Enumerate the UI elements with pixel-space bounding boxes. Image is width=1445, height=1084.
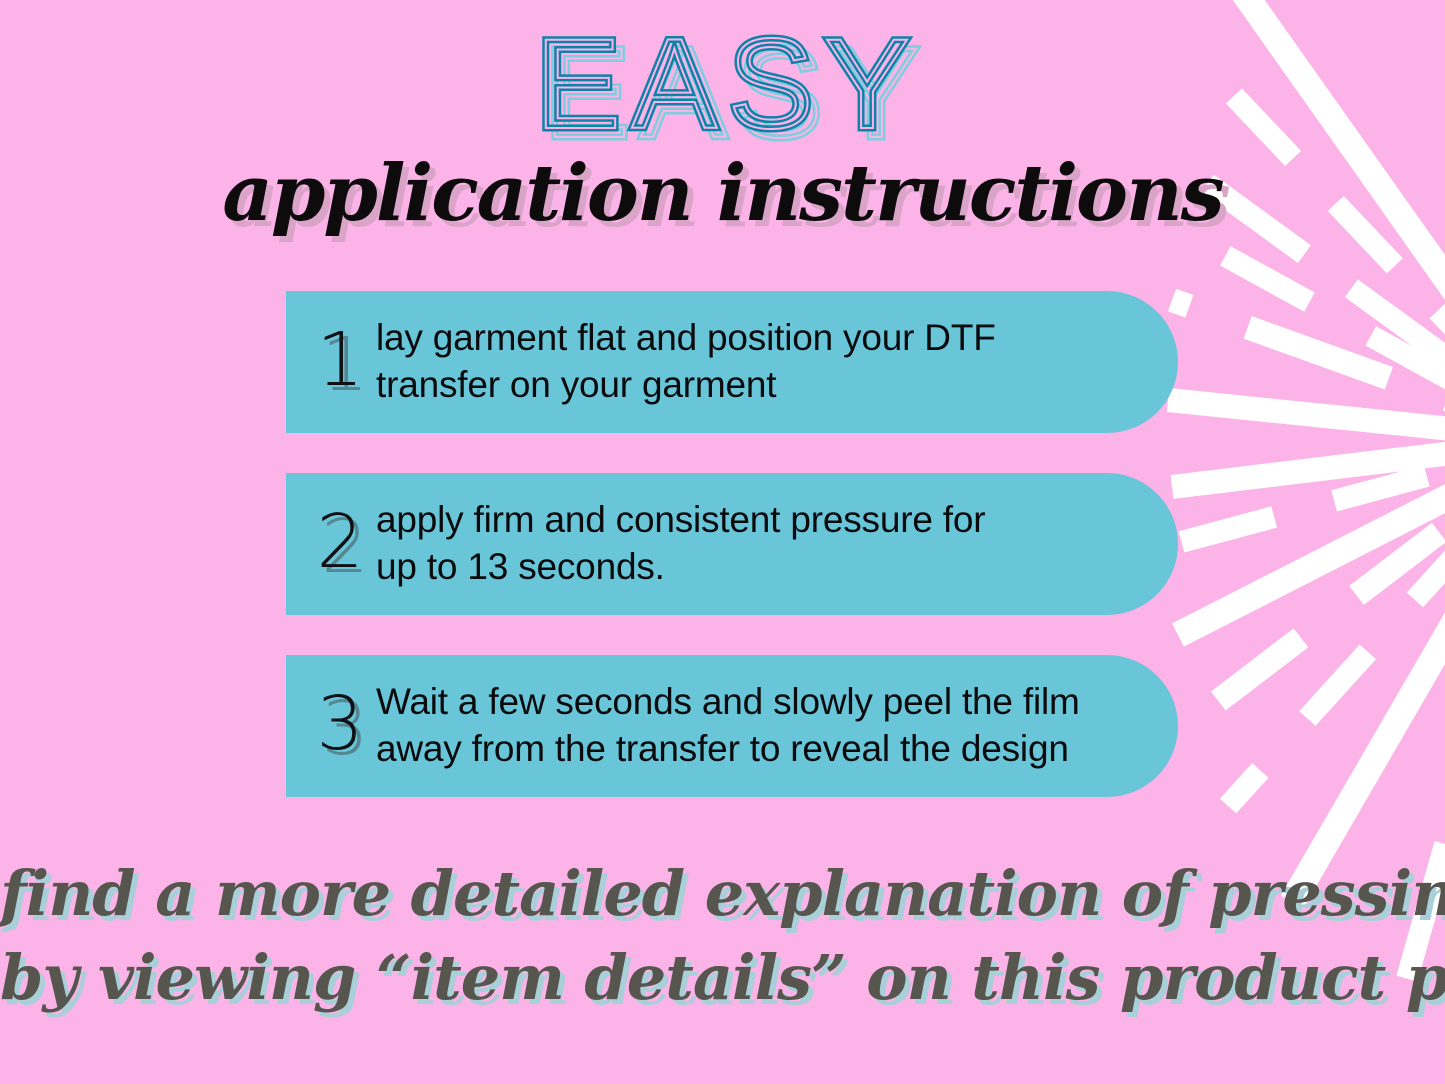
step-text-3: Wait a few seconds and slowly peel the f… <box>376 679 1178 772</box>
step-item-2: 2 apply firm and consistent pressure for… <box>286 473 1178 615</box>
footer-note: find a more detailed explanation of pres… <box>0 852 1445 1021</box>
step-text-line: Wait a few seconds and slowly peel the f… <box>376 679 1164 726</box>
step-text-line: away from the transfer to reveal the des… <box>376 726 1164 773</box>
poster-canvas: EASY EASY EASY EASY application instruct… <box>0 0 1445 1084</box>
step-number-3: 3 <box>304 687 376 761</box>
step-item-3: 3 Wait a few seconds and slowly peel the… <box>286 655 1178 797</box>
step-text-2: apply firm and consistent pressure for u… <box>376 497 1178 590</box>
easy-title-outline-inner: EASY <box>0 16 1445 154</box>
step-text-line: lay garment flat and position your DTF <box>376 315 1164 362</box>
step-text-1: lay garment flat and position your DTF t… <box>376 315 1178 408</box>
page-subtitle: application instructions <box>0 155 1445 233</box>
step-text-line: up to 13 seconds. <box>376 544 1164 591</box>
page-title: EASY EASY EASY EASY <box>0 16 1445 166</box>
step-item-1: 1 lay garment flat and position your DTF… <box>286 291 1178 433</box>
step-number-2: 2 <box>304 505 376 579</box>
step-number-1: 1 <box>304 323 376 397</box>
footer-note-line-1: find a more detailed explanation of pres… <box>0 852 1445 936</box>
step-text-line: apply firm and consistent pressure for <box>376 497 1164 544</box>
footer-note-line-2: by viewing “item details” on this produc… <box>0 936 1445 1020</box>
step-text-line: transfer on your garment <box>376 362 1164 409</box>
